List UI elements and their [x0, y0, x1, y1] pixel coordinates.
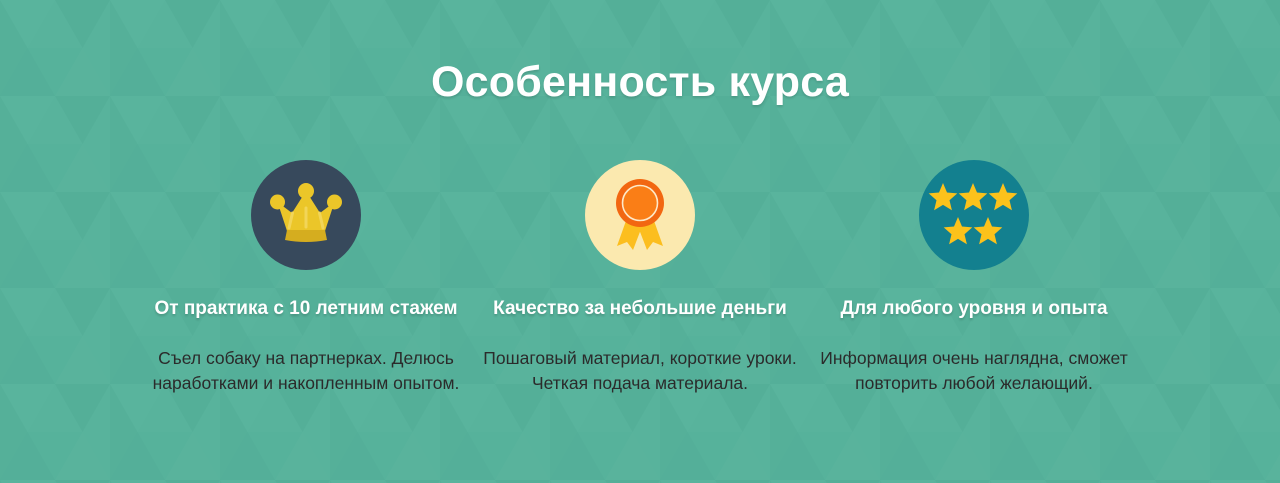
page-title: Особенность курса [0, 58, 1280, 107]
five-stars-icon [927, 183, 1021, 247]
crown-icon [270, 182, 342, 248]
award-ribbon-icon [608, 176, 672, 254]
feature-card-award: Качество за небольшие деньги Пошаговый м… [473, 160, 807, 395]
feature-text: Информация очень наглядна, сможет повтор… [814, 346, 1134, 396]
feature-title: Качество за небольшие деньги [493, 298, 787, 321]
feature-text: Пошаговый материал, короткие уроки. Четк… [480, 346, 800, 396]
features-section: Особенность курса От практика с [0, 0, 1280, 483]
stars-badge [919, 160, 1029, 270]
feature-card-crown: От практика с 10 летним стажем Съел соба… [139, 160, 473, 395]
feature-text: Съел собаку на партнерках. Делюсь нарабо… [146, 346, 466, 396]
features-row: От практика с 10 летним стажем Съел соба… [0, 160, 1280, 395]
feature-card-stars: Для любого уровня и опыта Информация оче… [807, 160, 1141, 395]
feature-title: Для любого уровня и опыта [840, 298, 1107, 321]
feature-title: От практика с 10 летним стажем [154, 298, 457, 321]
award-badge [585, 160, 695, 270]
crown-badge [251, 160, 361, 270]
